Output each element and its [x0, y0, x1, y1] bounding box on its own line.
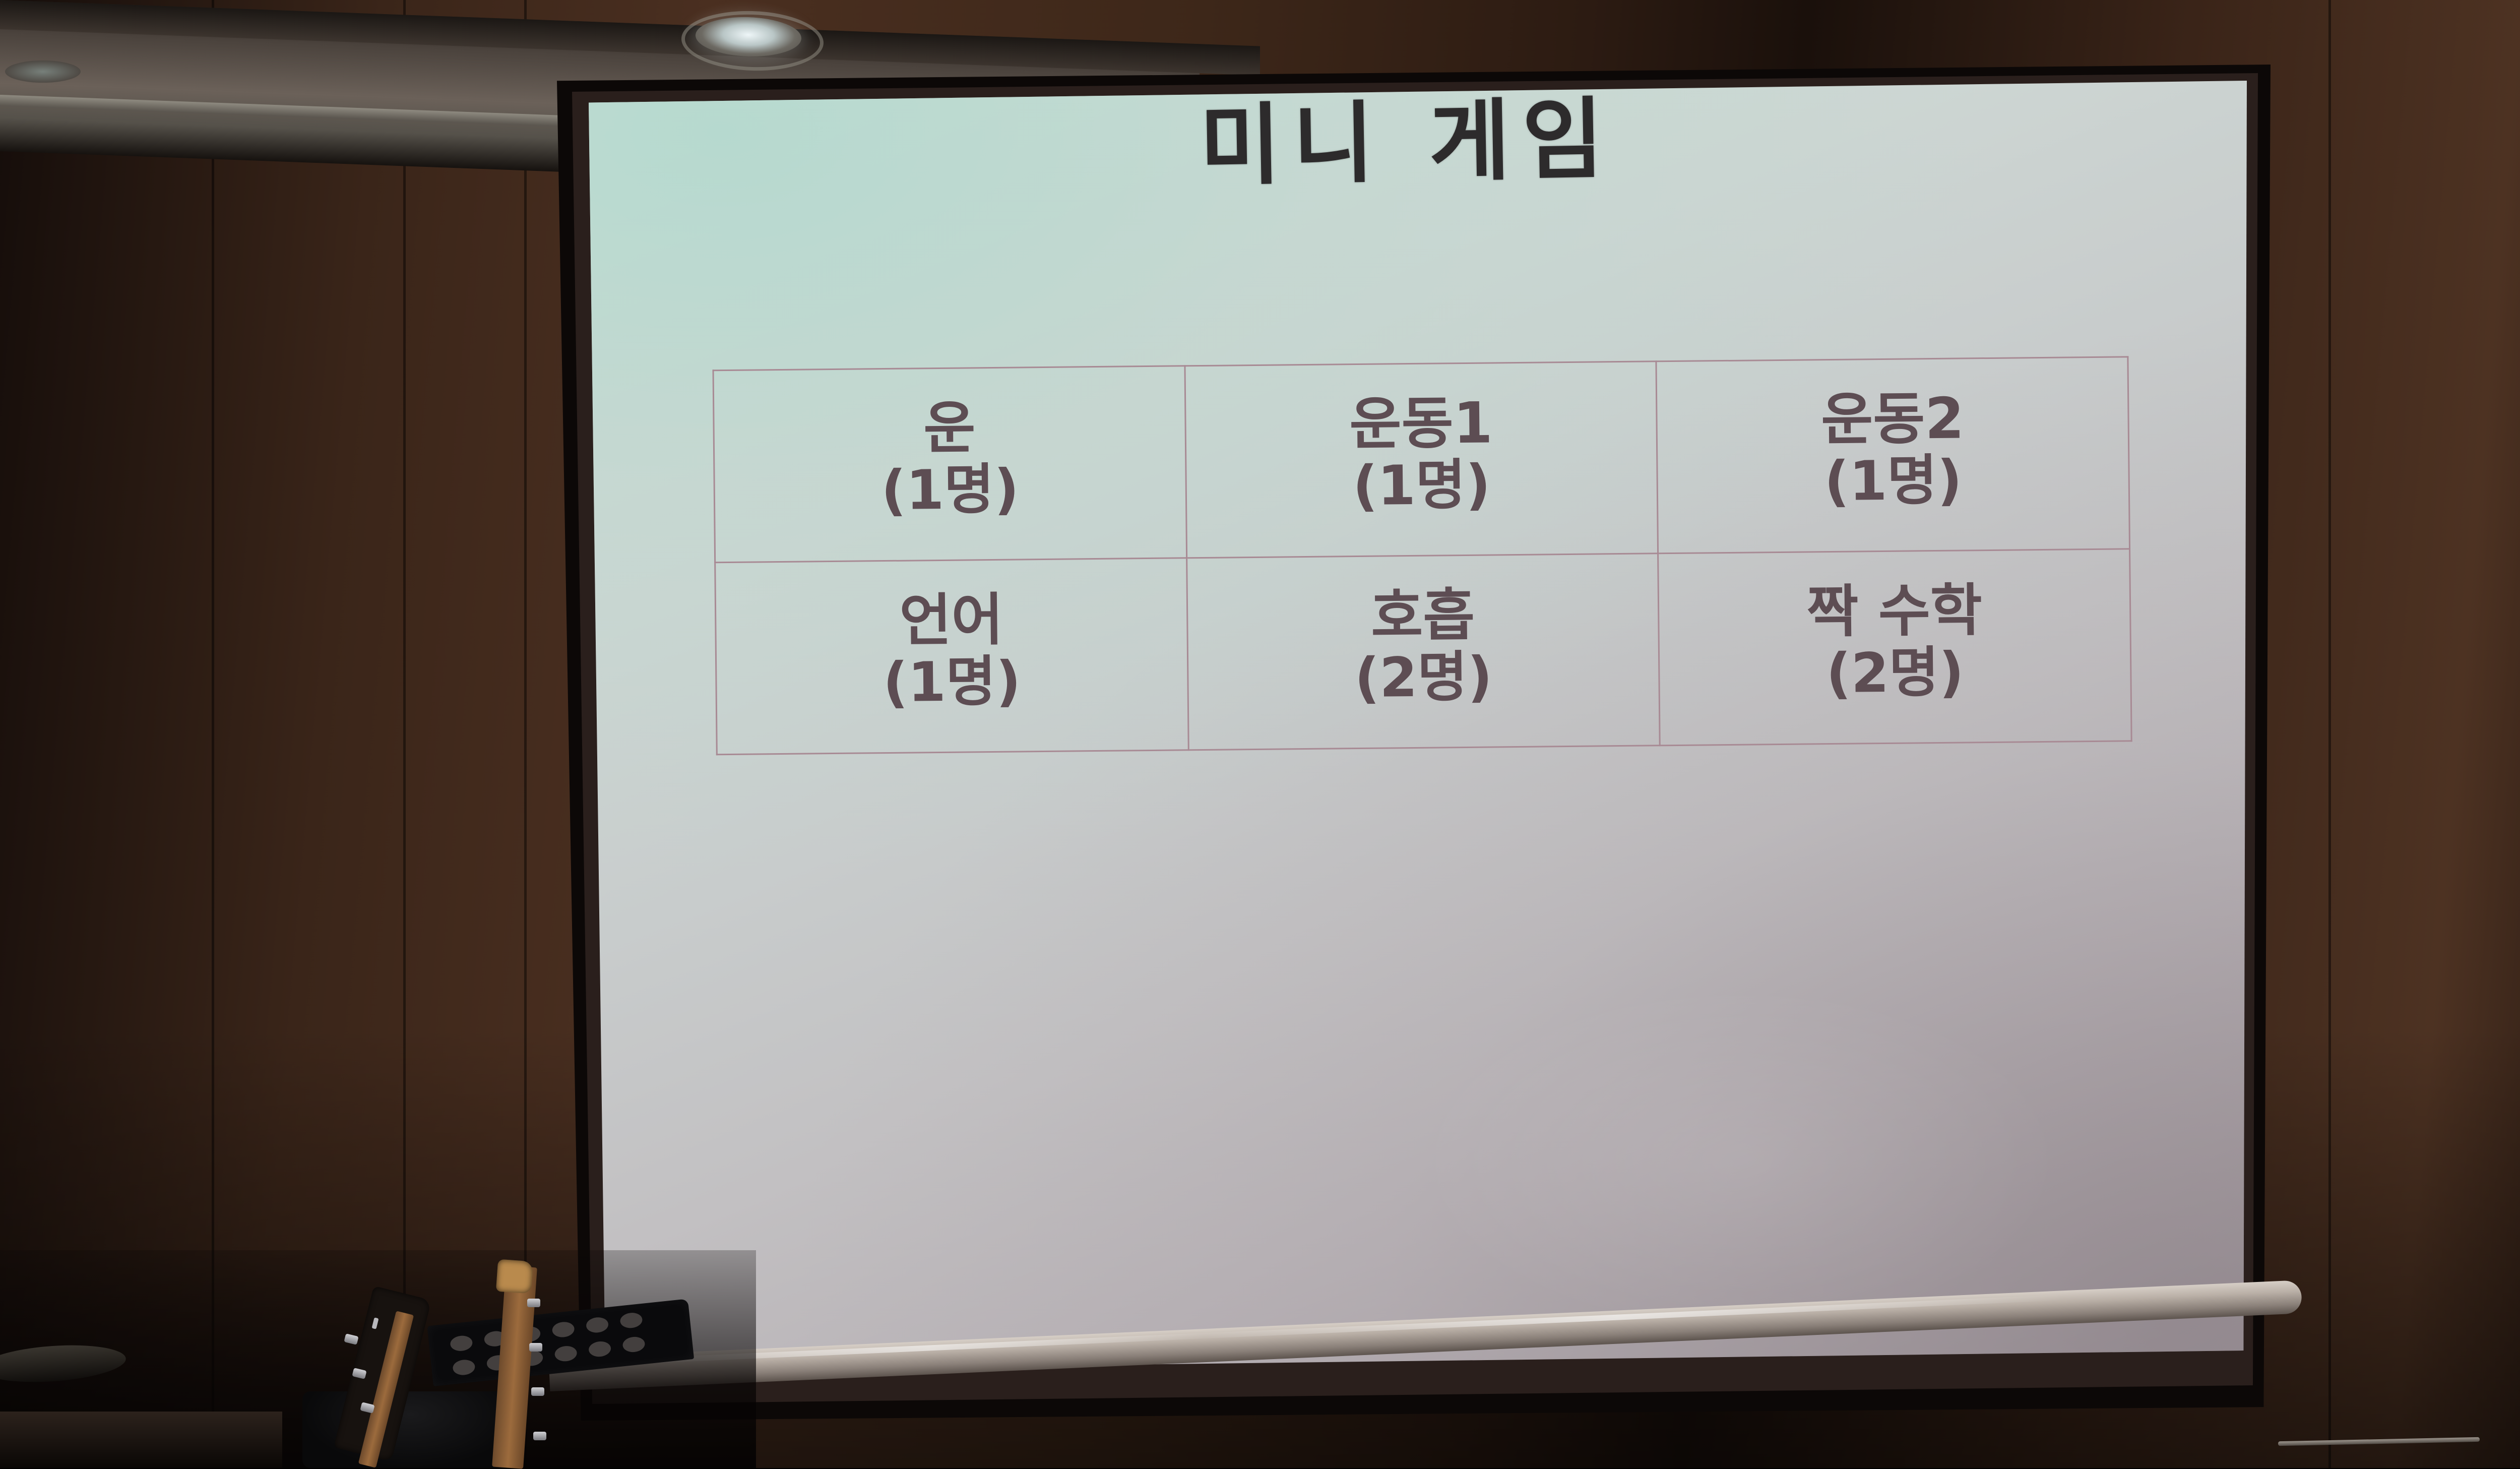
guitar-tuner	[527, 1299, 540, 1307]
guitar-tuner	[533, 1432, 546, 1440]
cell-count: (1명)	[1663, 449, 2123, 515]
wall-panel-seam	[524, 0, 527, 1468]
cell-label: 호흡	[1371, 583, 1475, 649]
table-row: 언어 (1명) 호흡 (2명) 짝 수학 (2명)	[715, 549, 2132, 755]
mini-game-table: 운 (1명) 운동1 (1명) 운동2 (1명) 언어 (1명) 호	[713, 356, 2132, 755]
table-row: 운 (1명) 운동1 (1명) 운동2 (1명)	[713, 357, 2130, 563]
wall-panel-seam	[403, 0, 406, 1468]
page-title: 미니 게임	[578, 84, 2238, 201]
cell-count: (1명)	[722, 650, 1182, 716]
cell-label: 짝 수학	[1806, 578, 1982, 645]
table-cell-exercise-2: 운동2 (1명)	[1656, 357, 2129, 554]
wall-panel-seam	[212, 0, 214, 1468]
guitar-headstock-right-icon	[496, 1259, 533, 1294]
cell-label: 언어	[899, 587, 1003, 654]
music-stand-base	[302, 1391, 519, 1468]
ceiling-downlight-secondary-icon	[5, 60, 81, 83]
podium	[0, 1412, 282, 1468]
table-cell-breathing: 호흡 (2명)	[1186, 554, 1660, 750]
table-cell-exercise-1: 운동1 (1명)	[1185, 361, 1658, 558]
guitar-tuner	[531, 1387, 544, 1396]
table-cell-language: 언어 (1명)	[715, 558, 1188, 755]
cell-label: 운	[923, 395, 976, 461]
guitar-tuner	[529, 1343, 542, 1352]
table-cell-pair-math: 짝 수학 (2명)	[1658, 549, 2131, 746]
cell-count: (1명)	[1191, 454, 1652, 519]
table-cell-run: 운 (1명)	[713, 366, 1186, 563]
cell-label: 운동2	[1821, 386, 1965, 453]
cell-count: (2명)	[1193, 646, 1654, 711]
cell-label: 운동1	[1349, 390, 1493, 457]
cell-count: (1명)	[720, 458, 1180, 524]
wall-panel-seam	[2328, 0, 2331, 1468]
cell-count: (2명)	[1665, 641, 2125, 707]
slide-content: 미니 게임 운 (1명) 운동1 (1명) 운동2 (1명) 언어	[578, 66, 2258, 1385]
